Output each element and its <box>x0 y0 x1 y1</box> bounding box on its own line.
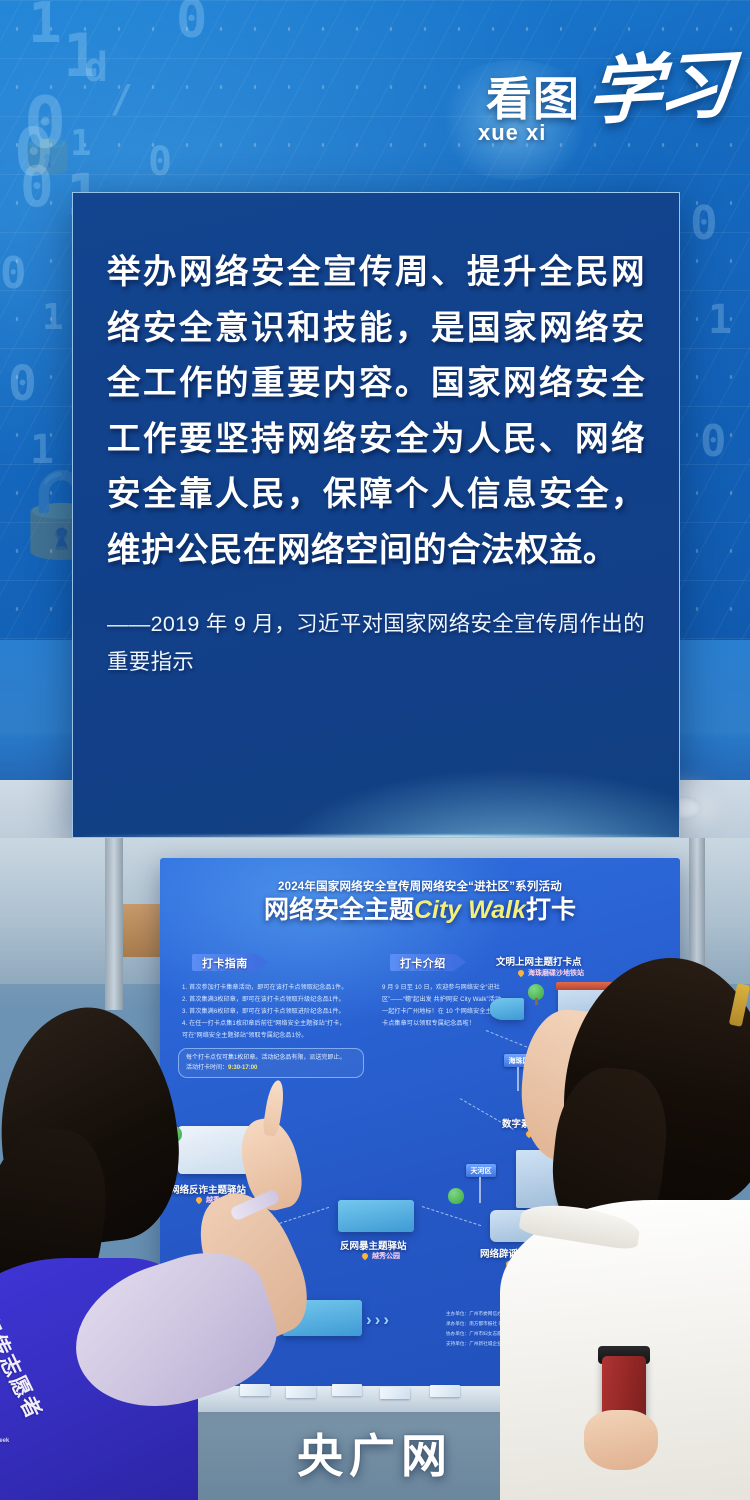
chevrons-decor: › › › <box>366 1310 389 1330</box>
board-title-suffix: 打卡 <box>526 896 576 924</box>
quote-attribution: ——2019 年 9 月，习近平对国家网络安全宣传周作出的重要指示 <box>107 605 645 682</box>
binary-digit-decor: 1 <box>708 300 732 340</box>
station-illustration <box>338 1200 414 1232</box>
brochure <box>332 1384 362 1396</box>
binary-digit-decor: 0 <box>700 420 727 464</box>
intro-tag: 打卡介绍 <box>390 954 455 971</box>
binary-digit-decor: d <box>84 48 108 88</box>
chevron-right-icon: › <box>375 1310 381 1330</box>
guide-item: 1. 首次参加打卡集章活动，即可在该打卡点领取纪念品1件。 <box>182 982 360 993</box>
cnr-watermark: 央广网 <box>0 1420 750 1486</box>
logo-kantu-text: 看图 <box>486 76 580 122</box>
binary-digit-decor: / <box>110 80 133 118</box>
binary-digit-decor: 0 <box>8 360 37 408</box>
binary-digit-decor: 0 <box>176 0 207 46</box>
padlock-icon: 🔒 <box>14 118 81 172</box>
brochure <box>380 1387 410 1399</box>
quote-text: 举办网络安全宣传周、提升全民网络安全意识和技能，是国家网络安全工作的重要内容。国… <box>107 245 645 579</box>
binary-digit-decor: 1 <box>42 300 64 336</box>
brochure <box>430 1385 460 1397</box>
guide-tag: 打卡指南 <box>192 954 257 971</box>
quote-card: 举办网络安全宣传周、提升全民网络安全意识和技能，是国家网络安全工作的重要内容。国… <box>72 192 680 838</box>
board-title-prefix: 网络安全主题 <box>264 896 414 924</box>
binary-digit-decor: 1 <box>30 430 54 470</box>
booth-frame-left <box>105 838 123 1010</box>
guide-item: 2. 首次集满3枚印章，即可在该打卡点领取升级纪念品1件。 <box>182 994 360 1005</box>
binary-digit-decor: 0 <box>148 142 172 182</box>
person-visitor-right <box>460 958 750 1500</box>
chevron-right-icon: › <box>383 1310 389 1330</box>
binary-digit-decor: 0 <box>690 200 718 246</box>
board-title-highlight: City Walk <box>414 896 526 924</box>
kantu-xuexi-logo: 看图 学习 xue xi <box>478 58 728 170</box>
board-subtitle: 2024年国家网络安全宣传周网络安全“进社区”系列活动 <box>160 878 680 894</box>
binary-digit-decor: 0 <box>0 252 27 296</box>
logo-xuexi-script: 学习 <box>585 54 730 125</box>
board-title: 网络安全主题City Walk打卡 <box>160 896 680 924</box>
event-photograph: 2024年国家网络安全宣传周网络安全“进社区”系列活动 网络安全主题City W… <box>0 838 750 1500</box>
station-name: 反网暴主题驿站 <box>340 1238 407 1252</box>
location-pin-icon <box>361 1252 369 1260</box>
chevron-right-icon: › <box>366 1310 372 1330</box>
station-place: 越秀公园 <box>372 1251 400 1261</box>
binary-digit-decor: 1 <box>28 0 62 52</box>
